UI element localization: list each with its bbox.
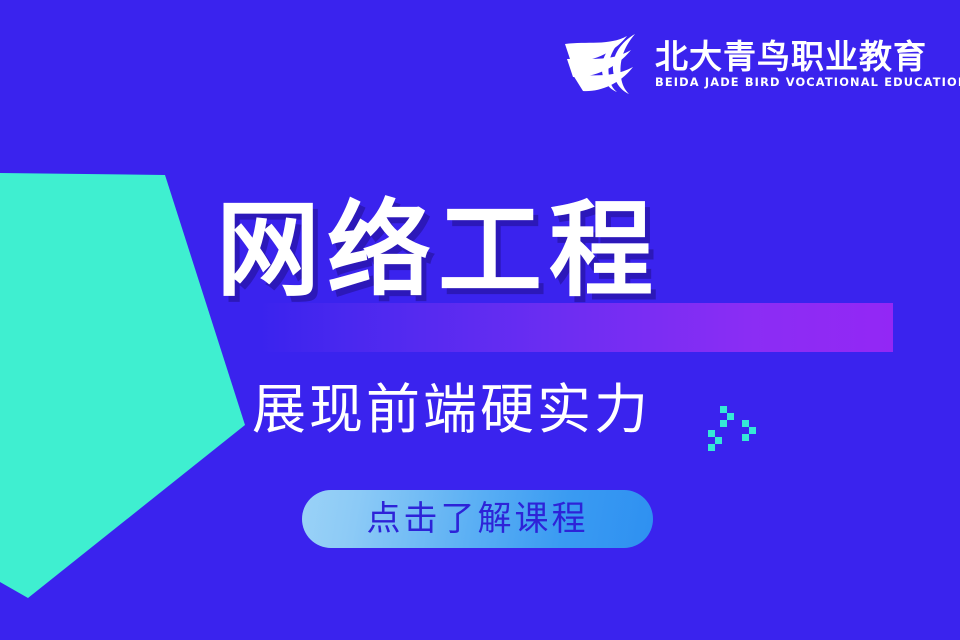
brand-name-cn: 北大青鸟职业教育 — [655, 39, 960, 75]
brand-logo-text: 北大青鸟职业教育 BEIDA JADE BIRD VOCATIONAL EDUC… — [655, 37, 960, 91]
brand-logo: 北大青鸟职业教育 BEIDA JADE BIRD VOCATIONAL EDUC… — [561, 26, 921, 102]
jade-bird-swoosh-mark — [561, 32, 645, 96]
promo-poster: 北大青鸟职业教育 BEIDA JADE BIRD VOCATIONAL EDUC… — [0, 0, 960, 640]
hero-title: 网络工程 — [216, 189, 660, 312]
brand-name-en: BEIDA JADE BIRD VOCATIONAL EDUCATION — [655, 75, 960, 91]
hero-subtitle: 展现前端硬实力 — [252, 378, 651, 443]
learn-more-button[interactable]: 点击了解课程 — [302, 490, 653, 548]
cyan-angular-polygon — [0, 0, 300, 640]
cyan-pixel-cluster-icon — [706, 404, 766, 454]
